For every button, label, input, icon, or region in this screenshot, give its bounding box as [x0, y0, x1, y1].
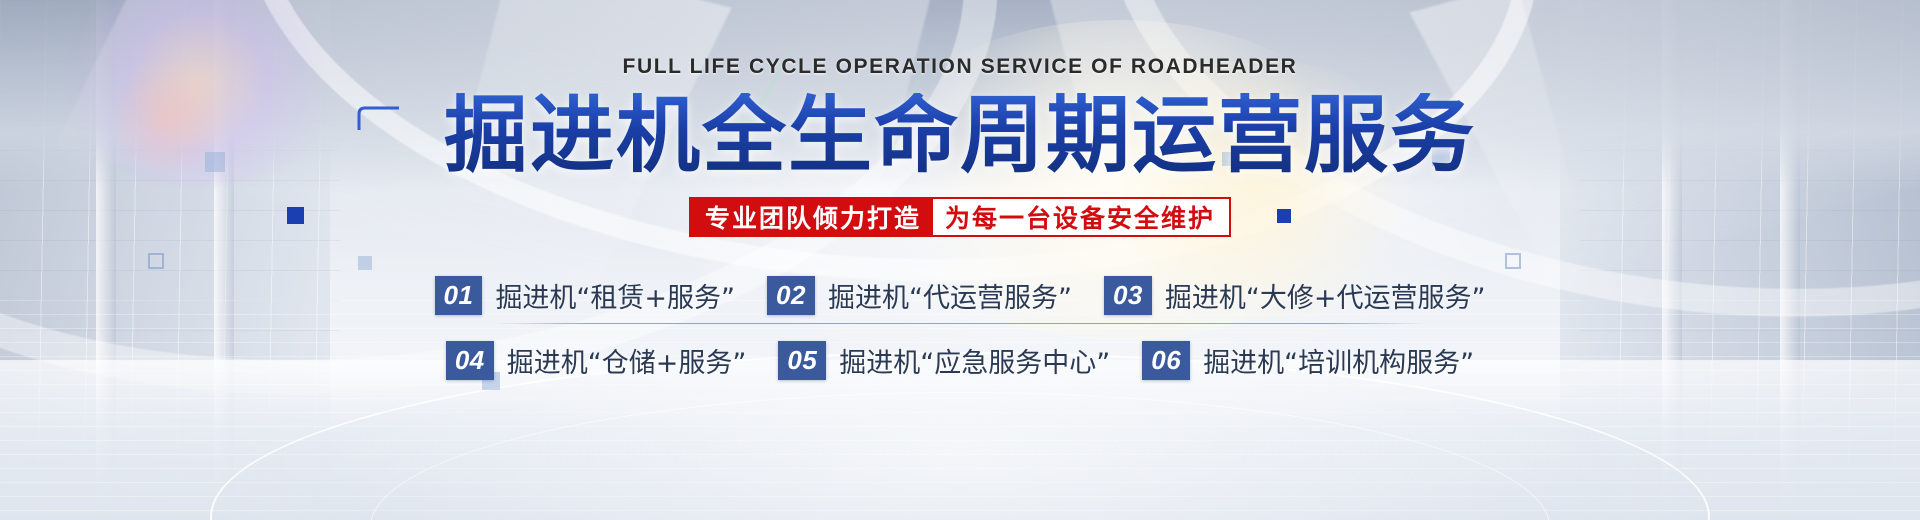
service-label: 掘进机“仓储+服务” — [507, 341, 747, 380]
service-label: 掘进机“大修+代运营服务” — [1165, 276, 1486, 315]
service-item-03[interactable]: 03 掘进机“大修+代运营服务” — [1088, 276, 1502, 315]
service-number: 02 — [767, 276, 815, 315]
promo-banner: FULL LIFE CYCLE OPERATION SERVICE OF ROA… — [0, 0, 1920, 520]
service-label: 掘进机“代运营服务” — [828, 276, 1072, 315]
tagline-left: 专业团队倾力打造 — [691, 199, 933, 235]
service-label: 掘进机“培训机构服务” — [1203, 341, 1474, 380]
service-item-01[interactable]: 01 掘进机“租赁+服务” — [419, 276, 752, 315]
banner-eyebrow: FULL LIFE CYCLE OPERATION SERVICE OF ROA… — [623, 55, 1298, 79]
service-divider — [495, 323, 1425, 324]
tagline-badge: 专业团队倾力打造 为每一台设备安全维护 — [689, 197, 1231, 237]
service-number: 04 — [446, 341, 494, 380]
service-row-2: 04 掘进机“仓储+服务” 05 掘进机“应急服务中心” 06 掘进机“培训机构… — [330, 336, 1590, 386]
service-number: 05 — [778, 341, 826, 380]
page-title: 掘进机全生命周期运营服务 — [444, 93, 1476, 179]
service-label: 掘进机“应急服务中心” — [839, 341, 1110, 380]
service-item-05[interactable]: 05 掘进机“应急服务中心” — [762, 341, 1126, 380]
service-list: 01 掘进机“租赁+服务” 02 掘进机“代运营服务” 03 掘进机“大修+代运… — [330, 271, 1590, 386]
service-row-1: 01 掘进机“租赁+服务” 02 掘进机“代运营服务” 03 掘进机“大修+代运… — [330, 271, 1590, 321]
service-number: 06 — [1142, 341, 1190, 380]
service-number: 01 — [435, 276, 483, 315]
service-number: 03 — [1104, 276, 1152, 315]
service-item-04[interactable]: 04 掘进机“仓储+服务” — [430, 341, 763, 380]
tagline-right: 为每一台设备安全维护 — [933, 199, 1229, 235]
banner-content: FULL LIFE CYCLE OPERATION SERVICE OF ROA… — [0, 0, 1920, 520]
service-label: 掘进机“租赁+服务” — [495, 276, 735, 315]
service-item-02[interactable]: 02 掘进机“代运营服务” — [751, 276, 1088, 315]
service-item-06[interactable]: 06 掘进机“培训机构服务” — [1126, 341, 1490, 380]
